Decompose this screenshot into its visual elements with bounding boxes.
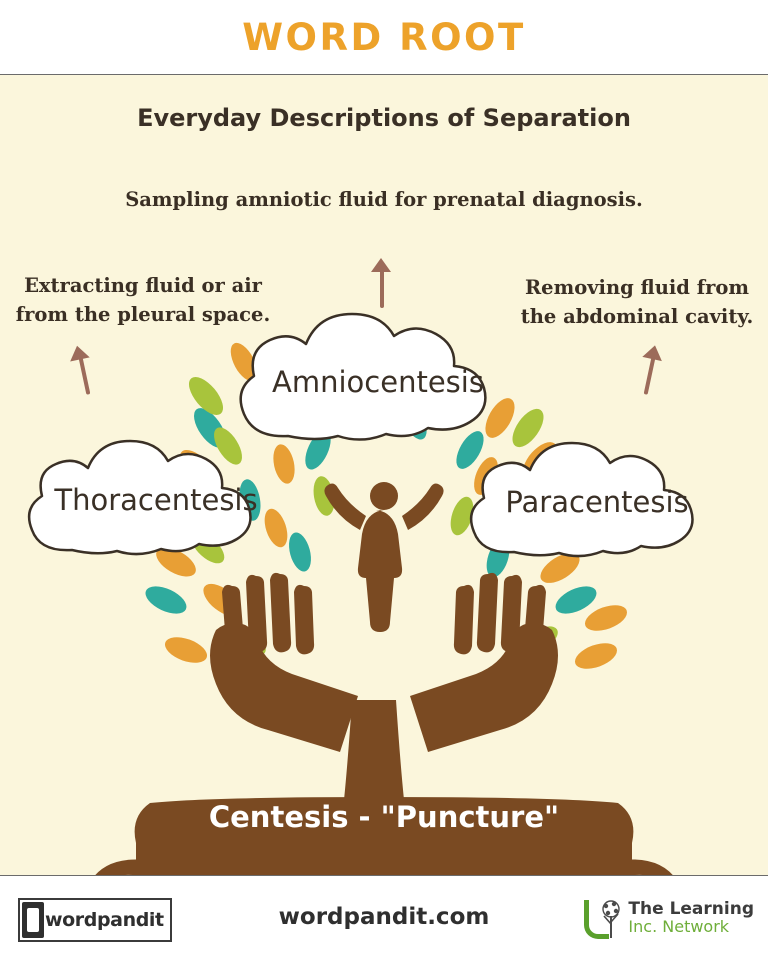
subtitle: Everyday Descriptions of Separation [0, 104, 768, 132]
cloud-thoracentesis: Thoracentesis [10, 430, 302, 570]
infographic-page: WORD ROOT Everyday Descriptions of Separ… [0, 0, 768, 960]
tree-icon-small [599, 898, 623, 938]
footer-bar: wordpandit wordpandit.com The Learning I… [0, 875, 768, 960]
partner-line-1: The Learning [628, 901, 754, 919]
header-bar: WORD ROOT [0, 0, 768, 75]
cloud-label-thoracentesis: Thoracentesis [54, 483, 257, 517]
partner-logo[interactable]: The Learning Inc. Network [582, 896, 754, 940]
cloud-label-paracentesis: Paracentesis [505, 485, 688, 519]
child-silhouette-icon [324, 482, 443, 632]
partner-text: The Learning Inc. Network [628, 901, 754, 936]
partner-mark-icon [582, 896, 622, 940]
arrow-up-icon-center [371, 258, 393, 306]
root-banner-label: Centesis - "Puncture" [0, 800, 768, 834]
cloud-paracentesis: Paracentesis [452, 432, 742, 572]
page-title: WORD ROOT [242, 16, 526, 59]
description-amniocentesis: Sampling amniotic fluid for prenatal dia… [0, 186, 768, 215]
cloud-label-amniocentesis: Amniocentesis [272, 365, 484, 399]
partner-line-2: Inc. Network [628, 919, 754, 936]
